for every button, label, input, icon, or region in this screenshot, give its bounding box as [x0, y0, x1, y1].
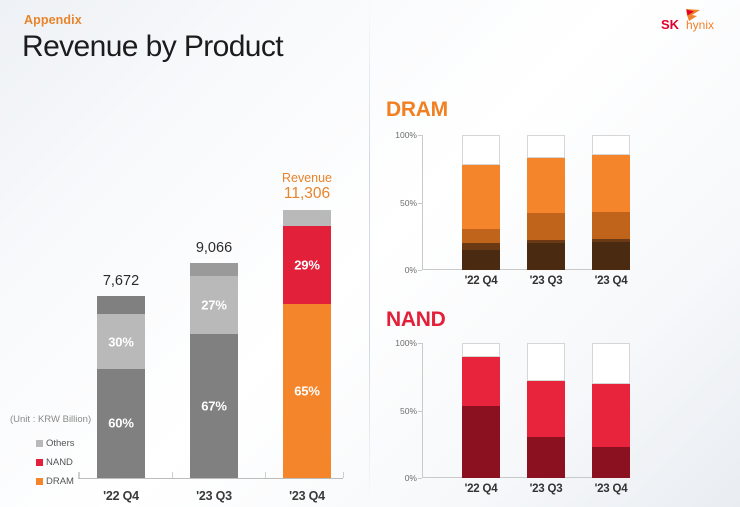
revenue-bar-3-segment-dram: 65% — [283, 304, 331, 478]
dram-bar-2 — [527, 135, 565, 270]
dram-bar-3-segment-4 — [592, 135, 630, 155]
left-chart-x-axis — [78, 478, 343, 479]
nand-bar-3 — [592, 343, 630, 478]
appendix-label-left: Appendix — [24, 13, 82, 27]
left-legend-item-nand: NAND — [36, 457, 75, 468]
logo-text-sk: SK — [661, 17, 680, 32]
legend-label: DRAM — [46, 476, 74, 487]
revenue-total-label-1: 7,672 — [79, 273, 163, 289]
legend-label: Others — [46, 438, 75, 449]
dram-y-axis — [422, 135, 423, 270]
segment-percent-label: 30% — [97, 334, 145, 349]
dram-bar-1-segment-4 — [462, 135, 500, 165]
left-chart-legend: OthersNANDDRAM — [36, 438, 75, 495]
nand-y-tick-1 — [418, 411, 422, 412]
nand-bar-1-segment-0 — [462, 406, 500, 478]
page-title-left: Revenue by Product — [22, 30, 283, 64]
revenue-bar-1: 30%60% — [97, 296, 145, 478]
revenue-x-label-1: '22 Q4 — [79, 489, 163, 503]
segment-percent-label: 60% — [97, 416, 145, 431]
dram-bar-1-segment-3 — [462, 165, 500, 230]
nand-y-tick-0 — [418, 478, 422, 479]
revenue-x-label-2: '23 Q3 — [172, 489, 256, 503]
revenue-bar-3-segment-others — [283, 210, 331, 226]
segment-percent-label: 67% — [190, 399, 238, 414]
revenue-bar-1-segment-nand: 30% — [97, 314, 145, 369]
revenue-bar-3-segment-nand: 29% — [283, 226, 331, 304]
revenue-axis-end-tick-2 — [343, 472, 344, 478]
dram-bar-2-segment-0 — [527, 243, 565, 270]
nand-x-label-1: '22 Q4 — [451, 483, 511, 495]
legend-swatch-icon — [36, 478, 43, 485]
segment-percent-label: 65% — [283, 383, 331, 398]
dram-y-tick-1 — [418, 203, 422, 204]
revenue-axis-end-tick-1 — [78, 472, 79, 478]
left-legend-item-others: Others — [36, 438, 75, 449]
nand-y-label-50: 50% — [400, 406, 417, 416]
dram-x-label-2: '23 Q3 — [516, 275, 576, 287]
dram-bar-3-segment-0 — [592, 242, 630, 270]
revenue-bar-2-segment-nand: 27% — [190, 276, 238, 334]
segment-percent-label: 29% — [283, 257, 331, 272]
nand-bar-2-segment-1 — [527, 381, 565, 438]
nand-bar-2-segment-0 — [527, 437, 565, 478]
revenue-bar-1-segment-dram: 60% — [97, 369, 145, 478]
nand-bar-3-segment-1 — [592, 384, 630, 447]
dram-bar-3 — [592, 135, 630, 270]
dram-y-label-50: 50% — [400, 198, 417, 208]
nand-x-label-2: '23 Q3 — [516, 483, 576, 495]
dram-x-label-1: '22 Q4 — [451, 275, 511, 287]
nand-chart-block: NAND 0%50%100%'22 Q4'23 Q3'23 Q4 USB, Ca… — [370, 305, 740, 507]
nand-y-label-0: 0% — [405, 473, 417, 483]
sk-hynix-logo-mark: SK hynix — [656, 7, 728, 35]
nand-bar-3-segment-2 — [592, 343, 630, 384]
revenue-bar-2-segment-dram: 67% — [190, 334, 238, 478]
nand-bar-1-segment-1 — [462, 357, 500, 407]
revenue-x-tick-1 — [79, 472, 80, 478]
revenue-bar-2-segment-others — [190, 263, 238, 276]
nand-chart-title: NAND — [386, 308, 445, 332]
dram-bar-2-segment-4 — [527, 135, 565, 158]
unit-note: (Unit : KRW Billion) — [10, 414, 91, 425]
segment-percent-label: 27% — [190, 298, 238, 313]
dram-bar-2-segment-3 — [527, 158, 565, 213]
nand-bar-2-segment-2 — [527, 343, 565, 381]
nand-bar-1-segment-2 — [462, 343, 500, 357]
panel-revenue-by-product: Appendix Revenue by Product (Unit : KRW … — [0, 0, 370, 507]
revenue-total-label-3: 11,306 — [265, 185, 349, 203]
revenue-highlight-caption: Revenue — [265, 171, 349, 185]
revenue-bar-1-segment-others — [97, 296, 145, 314]
left-legend-item-dram: DRAM — [36, 476, 75, 487]
nand-plot-area: 0%50%100%'22 Q4'23 Q3'23 Q4 — [422, 343, 622, 478]
dram-y-label-0: 0% — [405, 265, 417, 275]
revenue-x-tick-3 — [265, 472, 266, 478]
sk-hynix-logo: SK hynix — [656, 7, 728, 35]
revenue-bar-3: 29%65% — [283, 210, 331, 478]
dram-y-label-100: 100% — [395, 130, 417, 140]
nand-bar-3-segment-0 — [592, 447, 630, 478]
dram-bar-2-segment-2 — [527, 213, 565, 240]
legend-label: NAND — [46, 457, 73, 468]
legend-swatch-icon — [36, 440, 43, 447]
revenue-x-tick-2 — [172, 472, 173, 478]
dram-chart-title: DRAM — [386, 98, 448, 122]
dram-y-tick-2 — [418, 135, 422, 136]
nand-x-label-3: '23 Q4 — [581, 483, 641, 495]
nand-y-axis — [422, 343, 423, 478]
dram-y-tick-0 — [418, 270, 422, 271]
nand-bar-1 — [462, 343, 500, 478]
dram-bar-1-segment-2 — [462, 229, 500, 243]
revenue-bar-2: 27%67% — [190, 263, 238, 478]
dram-chart-block: DRAM 0%50%100%'22 Q4'23 Q3'23 Q4 PCServe… — [370, 95, 740, 305]
nand-y-label-100: 100% — [395, 338, 417, 348]
nand-y-tick-2 — [418, 343, 422, 344]
dram-bar-1-segment-1 — [462, 243, 500, 250]
legend-swatch-icon — [36, 459, 43, 466]
revenue-total-label-2: 9,066 — [172, 240, 256, 256]
dram-plot-area: 0%50%100%'22 Q4'23 Q3'23 Q4 — [422, 135, 622, 270]
dram-x-label-3: '23 Q4 — [581, 275, 641, 287]
dram-bar-3-segment-3 — [592, 155, 630, 212]
dram-bar-1 — [462, 135, 500, 270]
revenue-by-product-chart: (Unit : KRW Billion) OthersNANDDRAM 30%6… — [0, 150, 370, 507]
nand-bar-2 — [527, 343, 565, 478]
dram-bar-1-segment-0 — [462, 250, 500, 270]
logo-text-hynix: hynix — [686, 18, 714, 32]
dram-bar-3-segment-2 — [592, 212, 630, 239]
revenue-x-label-3: '23 Q4 — [265, 489, 349, 503]
